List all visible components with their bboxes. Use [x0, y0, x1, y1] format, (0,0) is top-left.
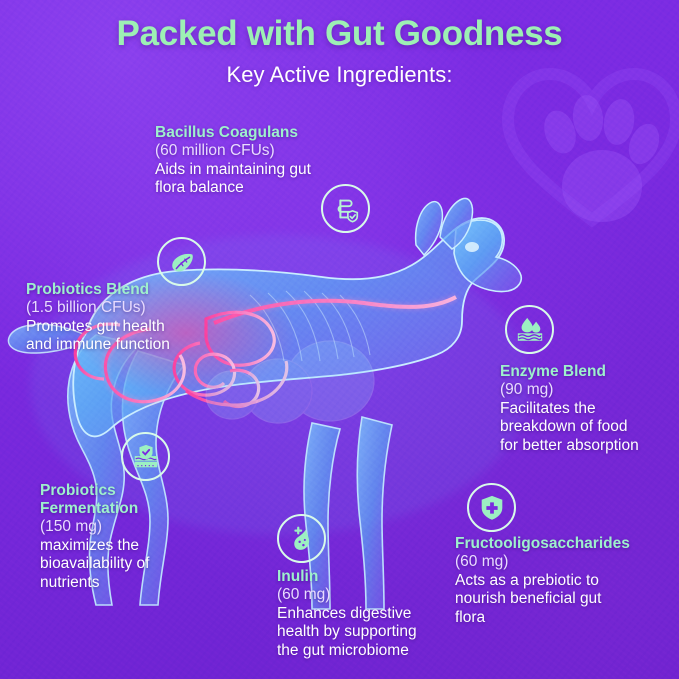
- droplets-waves-icon: [505, 305, 554, 354]
- ingredient-name: Enzyme Blend: [500, 363, 679, 381]
- ingredient-description: Promotes gut health and immune function: [26, 318, 241, 356]
- infographic-poster: Packed with Gut Goodness Key Active Ingr…: [0, 0, 679, 679]
- header: Packed with Gut Goodness Key Active Ingr…: [0, 0, 679, 88]
- ingredient-bacillus-coagulans: Bacillus Coagulans (60 million CFUs) Aid…: [155, 124, 385, 198]
- ingredient-name: Bacillus Coagulans: [155, 124, 385, 142]
- stomach-plus-icon: [277, 514, 326, 563]
- ingredient-name: Inulin: [277, 568, 477, 586]
- ingredient-name: Fructooligosaccharides: [455, 535, 670, 553]
- page-subtitle: Key Active Ingredients:: [0, 54, 679, 88]
- shield-cross-icon: [467, 483, 516, 532]
- ingredient-name: Probiotics Fermentation: [40, 482, 225, 518]
- ingredient-name: Probiotics Blend: [26, 281, 241, 299]
- ingredient-dose: (90 mg): [500, 381, 679, 400]
- ingredient-dose: (150 mg): [40, 518, 225, 537]
- ingredient-probiotics-fermentation: Probiotics Fermentation (150 mg) maximiz…: [40, 482, 225, 593]
- ingredient-inulin: Inulin (60 mg) Enhances digestive health…: [277, 568, 477, 661]
- ingredient-dose: (60 mg): [277, 586, 477, 605]
- ingredient-dose: (60 million CFUs): [155, 142, 385, 161]
- ingredient-probiotics-blend: Probiotics Blend (1.5 billion CFUs) Prom…: [26, 281, 241, 355]
- ingredient-enzyme-blend: Enzyme Blend (90 mg) Facilitates the bre…: [500, 363, 679, 456]
- paw-print-watermark-icon: [520, 88, 670, 238]
- page-title: Packed with Gut Goodness: [0, 0, 679, 54]
- ingredient-description: maximizes the bioavailability of nutrien…: [40, 537, 225, 594]
- ingredient-description: Acts as a prebiotic to nourish beneficia…: [455, 572, 670, 629]
- ingredient-dose: (1.5 billion CFUs): [26, 299, 241, 318]
- shield-skin-layers-icon: [121, 432, 170, 481]
- intestine-shield-icon: [321, 184, 370, 233]
- pancreas-leaf-icon: [157, 237, 206, 286]
- ingredient-description: Enhances digestive health by supporting …: [277, 605, 477, 662]
- ingredient-dose: (60 mg): [455, 553, 670, 572]
- ingredient-fructooligosaccharides: Fructooligosaccharides (60 mg) Acts as a…: [455, 535, 670, 628]
- ingredient-description: Facilitates the breakdown of food for be…: [500, 400, 679, 457]
